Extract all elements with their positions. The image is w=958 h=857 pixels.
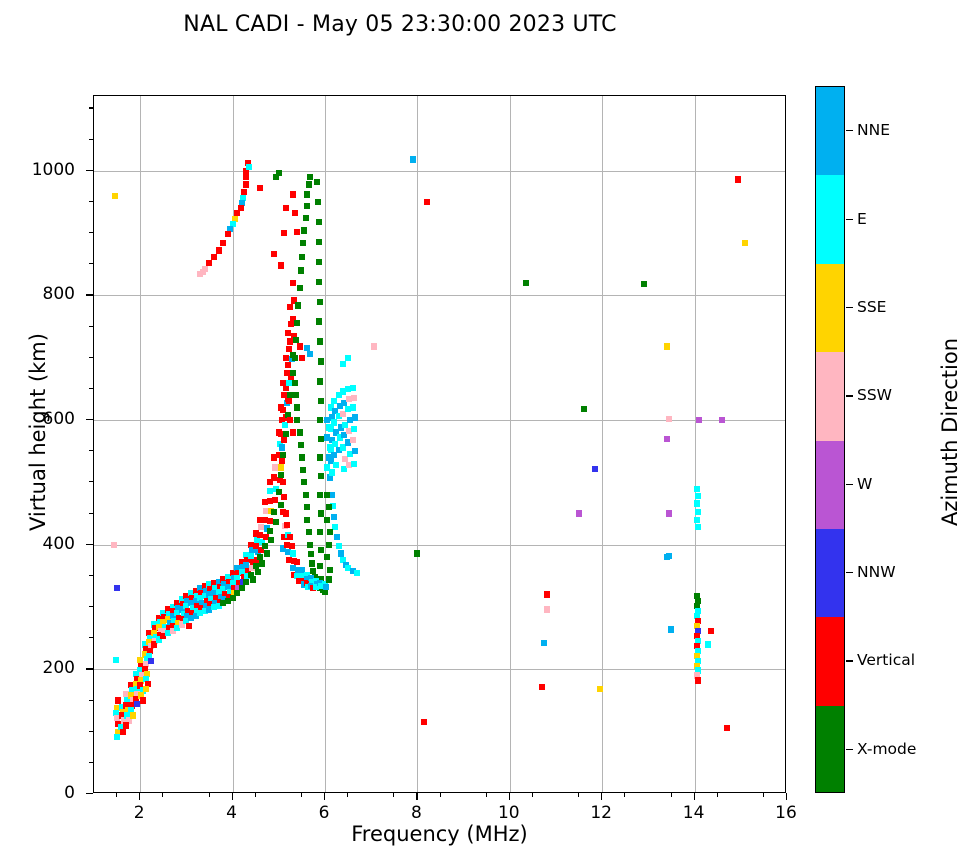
y-tick (86, 793, 93, 794)
ionogram-echo-point (294, 404, 300, 410)
ionogram-echo-point (299, 254, 305, 260)
ionogram-echo-point (289, 543, 295, 549)
y-tick-minor (89, 326, 93, 327)
y-tick-minor (89, 357, 93, 358)
x-tick (601, 793, 602, 800)
ionogram-echo-point (336, 543, 342, 549)
ionogram-echo-point (316, 239, 322, 245)
ionogram-echo-point (304, 517, 310, 523)
ionogram-echo-point (354, 570, 360, 576)
ionogram-echo-point (695, 493, 701, 499)
ionogram-echo-point (317, 299, 323, 305)
colorbar-tick (846, 660, 853, 661)
ionogram-echo-point (668, 626, 674, 632)
y-tick (86, 544, 93, 545)
ionogram-echo-point (664, 554, 670, 560)
ionogram-echo-point (303, 492, 309, 498)
ionogram-echo-point (123, 722, 129, 728)
ionogram-echo-point (666, 510, 672, 516)
ionogram-echo-point (316, 318, 322, 324)
colorbar-label-w: W (857, 475, 872, 493)
ionogram-echo-point (694, 486, 700, 492)
y-tick-label: 0 (9, 783, 75, 803)
colorbar-label-nnw: NNW (857, 563, 896, 581)
x-tick-minor (624, 793, 625, 797)
ionogram-echo-point (724, 725, 730, 731)
x-tick-minor (116, 793, 117, 797)
ionogram-echo-point (140, 697, 146, 703)
x-tick (416, 793, 417, 800)
ionogram-echo-point (317, 454, 323, 460)
x-tick-label: 8 (386, 803, 446, 823)
ionogram-echo-point (314, 179, 320, 185)
ionogram-echo-point (283, 431, 289, 437)
ionogram-echo-point (293, 392, 299, 398)
y-tick-minor (89, 481, 93, 482)
ionogram-echo-point (742, 240, 748, 246)
colorbar-label-sse: SSE (857, 298, 886, 316)
ionogram-echo-point (283, 205, 289, 211)
colorbar-band-ssw (816, 352, 844, 440)
ionogram-echo-point (246, 164, 252, 170)
ionogram-echo-point (316, 219, 322, 225)
ionogram-echo-point (317, 492, 323, 498)
ionogram-echo-point (324, 554, 330, 560)
ionogram-echo-point (295, 302, 301, 308)
x-tick (139, 793, 140, 800)
y-tick-minor (89, 762, 93, 763)
ionogram-echo-point (350, 437, 356, 443)
y-axis-label: Virtual height (km) (26, 302, 50, 562)
ionogram-echo-point (318, 358, 324, 364)
colorbar (815, 86, 845, 793)
ionogram-echo-point (597, 686, 603, 692)
ionogram-echo-point (271, 251, 277, 257)
ionogram-echo-point (273, 519, 279, 525)
ionogram-echo-point (324, 492, 330, 498)
y-tick (86, 668, 93, 669)
ionogram-echo-point (292, 380, 298, 386)
colorbar-band-sse (816, 264, 844, 352)
x-tick-minor (440, 793, 441, 797)
ionogram-echo-point (307, 351, 313, 357)
ionogram-echo-point (326, 576, 332, 582)
ionogram-echo-point (309, 560, 315, 566)
x-tick-minor (532, 793, 533, 797)
y-tick-minor (89, 450, 93, 451)
ionogram-echo-point (186, 623, 192, 629)
colorbar-label-nne: NNE (857, 121, 890, 139)
ionogram-echo-point (350, 404, 356, 410)
ionogram-echo-point (294, 320, 300, 326)
y-tick-minor (89, 263, 93, 264)
y-tick-label: 200 (9, 658, 75, 678)
ionogram-echo-point (148, 658, 154, 664)
ionogram-echo-point (695, 677, 701, 683)
y-tick-minor (89, 388, 93, 389)
ionogram-echo-point (286, 398, 292, 404)
ionogram-echo-point (306, 181, 312, 187)
ionogram-echo-point (340, 361, 346, 367)
ionogram-echo-point (317, 338, 323, 344)
ionogram-echo-point (279, 458, 285, 464)
ionogram-echo-point (303, 215, 309, 221)
ionogram-echo-point (287, 304, 293, 310)
ionogram-echo-point (541, 640, 547, 646)
ionogram-echo-point (304, 203, 310, 209)
ionogram-echo-point (243, 181, 249, 187)
x-tick (324, 793, 325, 800)
y-tick-minor (89, 606, 93, 607)
ionogram-echo-point (290, 429, 296, 435)
ionogram-echo-point (544, 591, 550, 597)
ionogram-echo-point (283, 510, 289, 516)
ionogram-echo-point (345, 355, 351, 361)
y-tick-minor (89, 731, 93, 732)
ionogram-echo-point (316, 279, 322, 285)
ionogram-echo-point (705, 641, 711, 647)
y-tick (86, 170, 93, 171)
ionogram-echo-point (292, 355, 298, 361)
ionogram-echo-point (333, 462, 339, 468)
x-axis-label: Frequency (MHz) (93, 822, 786, 846)
ionogram-echo-point (318, 547, 324, 553)
ionogram-echo-point (284, 522, 290, 528)
ionogram-plot-area (93, 95, 786, 793)
x-tick-minor (578, 793, 579, 797)
ionogram-echo-point (287, 417, 293, 423)
colorbar-title: Azimuth Direction (938, 282, 958, 582)
ionogram-echo-point (539, 684, 545, 690)
ionogram-echo-point (300, 240, 306, 246)
y-tick-label: 1000 (9, 160, 75, 180)
ionogram-echo-point (294, 559, 300, 565)
x-tick-label: 16 (756, 803, 816, 823)
ionogram-echo-point (307, 174, 313, 180)
ionogram-echo-point (317, 563, 323, 569)
colorbar-band-nnw (816, 529, 844, 617)
x-tick-minor (255, 793, 256, 797)
y-tick-minor (89, 513, 93, 514)
ionogram-echo-point (315, 199, 321, 205)
ionogram-echo-point (130, 712, 136, 718)
ionogram-echo-point (299, 454, 305, 460)
ionogram-echo-point (421, 719, 427, 725)
ionogram-echo-point (278, 262, 284, 268)
x-tick (786, 793, 787, 800)
ionogram-echo-point (297, 343, 303, 349)
ionogram-echo-point (666, 416, 672, 422)
ionogram-echo-point (414, 550, 420, 556)
ionogram-echo-point (292, 210, 298, 216)
ionogram-echo-point (264, 550, 270, 556)
ionogram-echo-point (317, 378, 323, 384)
ionogram-echo-point (113, 657, 119, 663)
ionogram-echo-point (334, 534, 340, 540)
ionogram-echo-point (271, 509, 277, 515)
ionogram-echo-point (324, 517, 330, 523)
ionogram-echo-point (112, 193, 118, 199)
x-tick-minor (393, 793, 394, 797)
x-tick (509, 793, 510, 800)
x-tick-label: 2 (109, 803, 169, 823)
ionogram-echo-point (694, 517, 700, 523)
ionogram-echo-point (323, 584, 329, 590)
ionogram-echo-point (317, 529, 323, 535)
ionogram-echo-point (290, 191, 296, 197)
ionogram-echo-point (696, 417, 702, 423)
ionogram-echo-point (111, 542, 117, 548)
x-tick-label: 4 (202, 803, 262, 823)
colorbar-band-vertical (816, 617, 844, 705)
ionogram-echo-point (352, 448, 358, 454)
ionogram-echo-point (301, 479, 307, 485)
y-tick-minor (89, 232, 93, 233)
ionogram-echo-point (329, 469, 335, 475)
ionogram-echo-point (299, 355, 305, 361)
x-tick-minor (763, 793, 764, 797)
ionogram-echo-point (318, 398, 324, 404)
ionogram-echo-point (255, 569, 261, 575)
ionogram-echo-point (120, 729, 126, 735)
ionogram-echo-point (350, 385, 356, 391)
ionogram-echo-point (294, 229, 300, 235)
ionogram-echo-point (297, 285, 303, 291)
x-tick-label: 6 (294, 803, 354, 823)
ionogram-echo-point (285, 362, 291, 368)
ionogram-echo-point (243, 174, 249, 180)
ionogram-echo-point (281, 230, 287, 236)
ionogram-echo-point (371, 343, 377, 349)
page-title: NAL CADI - May 05 23:30:00 2023 UTC (0, 12, 800, 37)
x-tick-label: 10 (479, 803, 539, 823)
ionogram-echo-point (708, 628, 714, 634)
ionogram-echo-point (281, 494, 287, 500)
y-tick (86, 294, 93, 295)
ionogram-echo-point (250, 576, 256, 582)
colorbar-tick (846, 572, 853, 573)
ionogram-echo-point (664, 343, 670, 349)
x-tick-minor (486, 793, 487, 797)
ionogram-echo-point (331, 514, 337, 520)
ionogram-echo-point (424, 199, 430, 205)
ionogram-echo-point (307, 542, 313, 548)
ionogram-echo-point (300, 467, 306, 473)
ionogram-echo-point (331, 419, 337, 425)
ionogram-echo-point (279, 444, 285, 450)
ionogram-echo-point (326, 504, 332, 510)
ionogram-echo-point (304, 191, 310, 197)
colorbar-band-nne (816, 87, 844, 175)
ionogram-echo-point (290, 280, 296, 286)
x-tick (694, 793, 695, 800)
ionogram-echo-point (287, 534, 293, 540)
ionogram-echo-point (327, 529, 333, 535)
ionogram-echo-point (262, 543, 268, 549)
ionogram-echo-point (220, 240, 226, 246)
colorbar-tick (846, 307, 853, 308)
x-tick-minor (347, 793, 348, 797)
x-tick-minor (162, 793, 163, 797)
y-tick-minor (89, 139, 93, 140)
ionogram-echo-point (351, 461, 357, 467)
colorbar-band-e (816, 175, 844, 263)
ionogram-echo-point (352, 414, 358, 420)
ionogram-echo-point (197, 271, 203, 277)
y-tick-minor (89, 575, 93, 576)
ionogram-echo-point (318, 473, 324, 479)
y-tick-minor (89, 700, 93, 701)
ionogram-echo-point (351, 426, 357, 432)
ionogram-echo-point (544, 606, 550, 612)
ionogram-echo-point (695, 509, 701, 515)
x-tick-minor (209, 793, 210, 797)
ionogram-echo-point (298, 442, 304, 448)
x-tick-label: 12 (571, 803, 631, 823)
ionogram-echo-point (278, 464, 284, 470)
ionogram-echo-point (278, 472, 284, 478)
ionogram-echo-point (298, 267, 304, 273)
ionogram-echo-point (114, 585, 120, 591)
ionogram-echo-point (308, 551, 314, 557)
x-tick-label: 14 (664, 803, 724, 823)
ionogram-echo-point (332, 524, 338, 530)
ionogram-echo-point (280, 452, 286, 458)
colorbar-band-w (816, 441, 844, 529)
ionogram-echo-point (257, 185, 263, 191)
ionogram-echo-point (290, 370, 296, 376)
ionogram-echo-point (410, 156, 416, 162)
ionogram-echo-point (735, 176, 741, 182)
ionogram-echo-point (239, 585, 245, 591)
ionogram-echo-point (268, 537, 274, 543)
ionogram-echo-point (326, 542, 332, 548)
ionogram-echo-point (719, 417, 725, 423)
ionogram-echo-point (694, 500, 700, 506)
x-tick-minor (671, 793, 672, 797)
ionogram-echo-point (267, 528, 273, 534)
ionogram-echo-point (306, 529, 312, 535)
ionogram-echo-point (225, 231, 231, 237)
ionogram-echo-point (351, 395, 357, 401)
ionogram-echo-point (278, 502, 284, 508)
ionogram-echo-point (576, 510, 582, 516)
ionogram-echo-point (301, 227, 307, 233)
y-tick (86, 419, 93, 420)
ionogram-echo-point (523, 280, 529, 286)
ionogram-echo-point (592, 466, 598, 472)
y-tick-minor (89, 107, 93, 108)
ionogram-echo-point (290, 550, 296, 556)
ionogram-echo-point (327, 567, 333, 573)
x-tick-minor (301, 793, 302, 797)
colorbar-tick (846, 130, 853, 131)
colorbar-tick (846, 484, 853, 485)
colorbar-tick (846, 395, 853, 396)
ionogram-echo-point (243, 579, 249, 585)
y-tick-minor (89, 637, 93, 638)
y-tick-minor (89, 201, 93, 202)
ionogram-echo-point (276, 170, 282, 176)
ionogram-echo-point (294, 417, 300, 423)
colorbar-tick (846, 219, 853, 220)
ionogram-echo-point (304, 504, 310, 510)
ionogram-echo-point (664, 436, 670, 442)
ionogram-echo-point (581, 406, 587, 412)
colorbar-label-vertical: Vertical (857, 651, 915, 669)
ionogram-echo-point (297, 429, 303, 435)
ionogram-echo-point (695, 524, 701, 530)
x-tick-minor (717, 793, 718, 797)
ionogram-echo-point (317, 417, 323, 423)
ionogram-echo-point (280, 479, 286, 485)
ionogram-echo-point (259, 560, 265, 566)
ionogram-echo-point (143, 686, 149, 692)
ionogram-data-points (94, 96, 785, 792)
colorbar-label-ssw: SSW (857, 386, 892, 404)
ionogram-echo-point (281, 437, 287, 443)
colorbar-band-x-mode (816, 706, 844, 793)
colorbar-tick (846, 749, 853, 750)
colorbar-label-e: E (857, 210, 867, 228)
x-tick (232, 793, 233, 800)
ionogram-echo-point (316, 259, 322, 265)
colorbar-label-x-mode: X-mode (857, 740, 916, 758)
ionogram-echo-point (641, 281, 647, 287)
